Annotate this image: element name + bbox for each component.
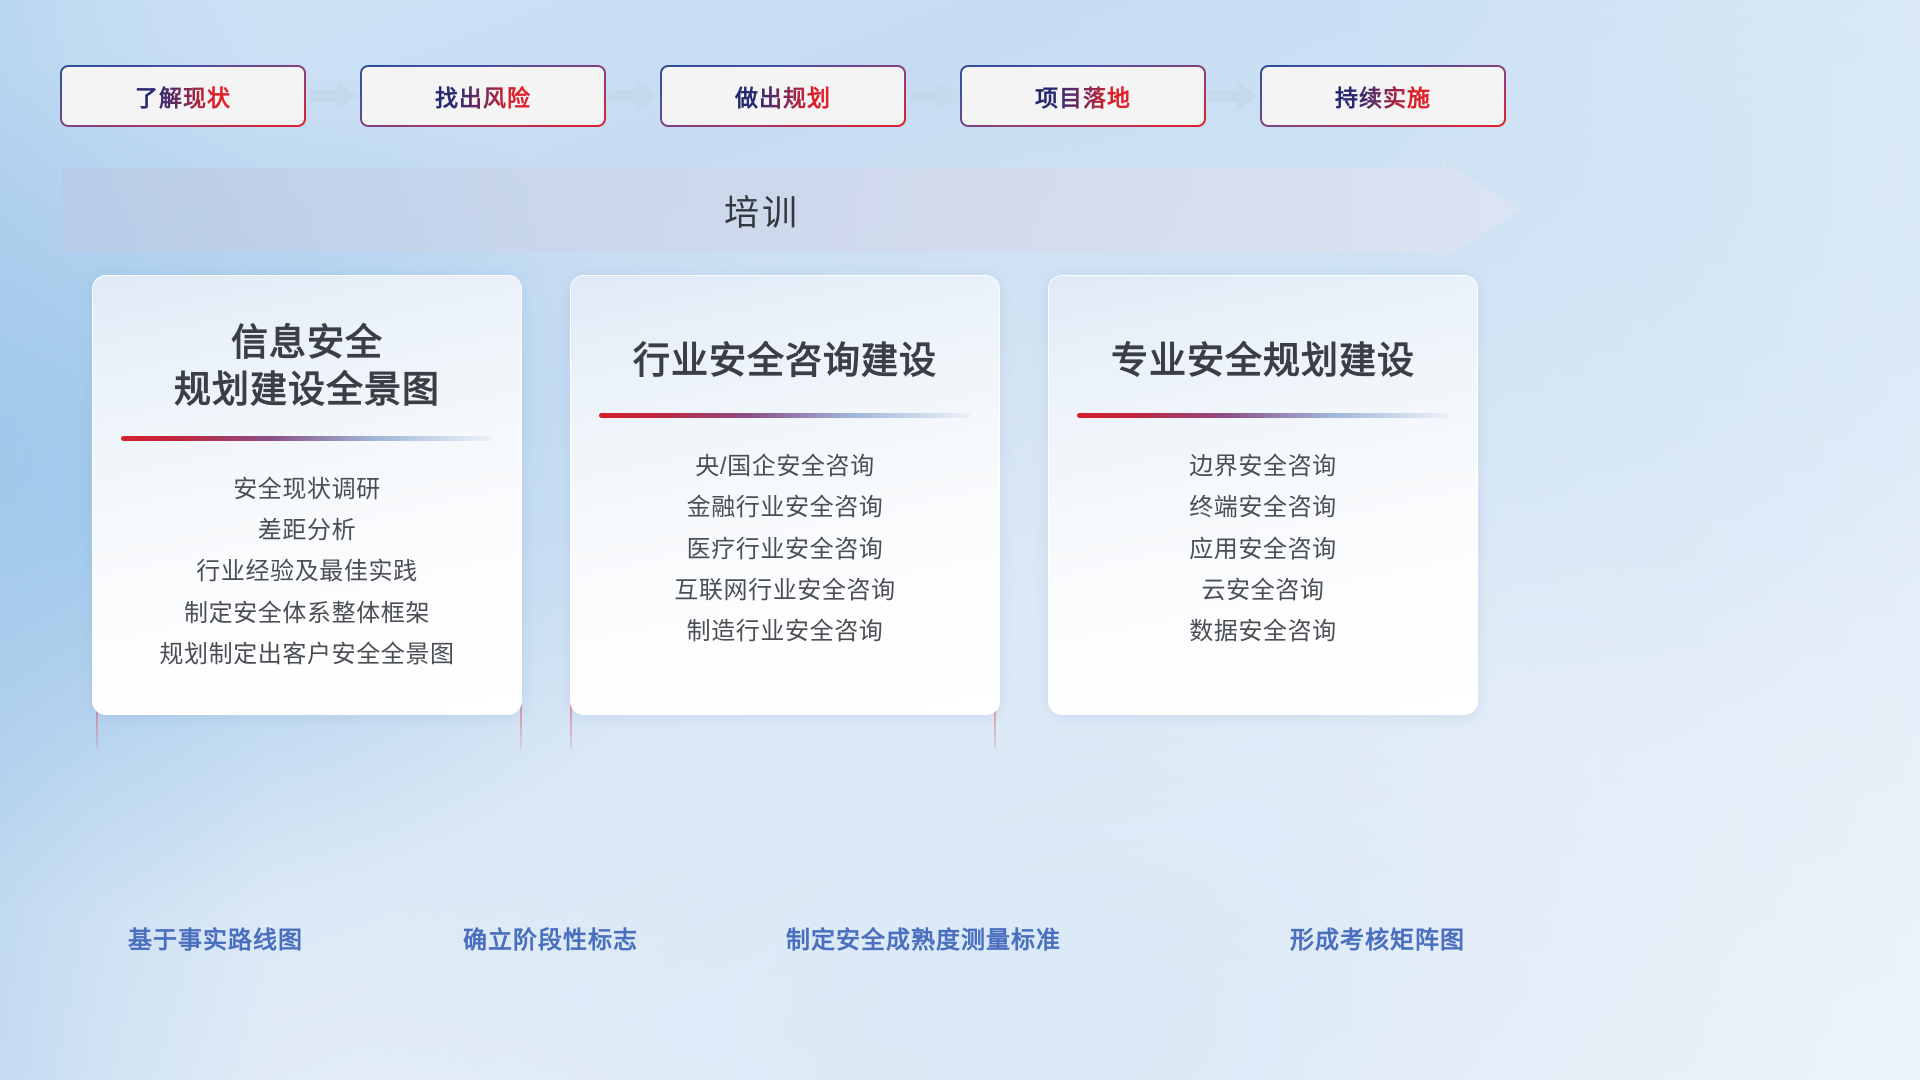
card-list-item: 规划制定出客户安全全景图 (92, 634, 522, 675)
card-list-item: 数据安全咨询 (1048, 611, 1478, 652)
footnote-2: 制定安全成熟度测量标准 (786, 920, 1061, 955)
right-arrow-icon (606, 79, 660, 113)
footnote-0: 基于事实路线图 (128, 920, 303, 955)
right-arrow-icon (906, 79, 960, 113)
service-card-1[interactable]: 行业安全咨询建设 央/国企安全咨询 金融行业安全咨询 医疗行业安全咨询 互联网行… (570, 275, 1000, 715)
card-item-list: 央/国企安全咨询 金融行业安全咨询 医疗行业安全咨询 互联网行业安全咨询 制造行… (570, 446, 1000, 652)
card-list-item: 制定安全体系整体框架 (92, 593, 522, 634)
process-step-label: 了解现状 (135, 79, 231, 113)
process-step-3[interactable]: 项目落地 (960, 65, 1206, 127)
process-step-label: 找出风险 (435, 79, 531, 113)
card-divider (121, 436, 493, 441)
process-step-row: 了解现状 找出风险 做出规划 项目落地 (60, 65, 1860, 127)
card-list-item: 应用安全咨询 (1048, 529, 1478, 570)
footnote-row: 基于事实路线图 确立阶段性标志 制定安全成熟度测量标准 形成考核矩阵图 (0, 920, 1920, 960)
card-divider (1077, 413, 1449, 418)
card-list-item: 医疗行业安全咨询 (570, 529, 1000, 570)
service-card-group: 信息安全 规划建设全景图 安全现状调研 差距分析 行业经验及最佳实践 制定安全体… (92, 275, 1832, 715)
training-banner-label: 培训 (62, 160, 1462, 260)
card-list-item: 制造行业安全咨询 (570, 611, 1000, 652)
card-list-item: 边界安全咨询 (1048, 446, 1478, 487)
footnote-3: 形成考核矩阵图 (1290, 920, 1465, 955)
card-item-list: 安全现状调研 差距分析 行业经验及最佳实践 制定安全体系整体框架 规划制定出客户… (92, 469, 522, 675)
card-item-list: 边界安全咨询 终端安全咨询 应用安全咨询 云安全咨询 数据安全咨询 (1048, 446, 1478, 652)
process-step-4[interactable]: 持续实施 (1260, 65, 1506, 127)
card-title: 专业安全规划建设 (1074, 275, 1452, 391)
training-banner: 培训 (62, 160, 1522, 260)
card-list-item: 安全现状调研 (92, 469, 522, 510)
card-list-item: 互联网行业安全咨询 (570, 570, 1000, 611)
card-list-item: 终端安全咨询 (1048, 487, 1478, 528)
process-step-1[interactable]: 找出风险 (360, 65, 606, 127)
slide-stage: 了解现状 找出风险 做出规划 项目落地 (0, 0, 1920, 1080)
process-step-label: 项目落地 (1035, 79, 1131, 113)
card-list-item: 央/国企安全咨询 (570, 446, 1000, 487)
card-list-item: 金融行业安全咨询 (570, 487, 1000, 528)
process-step-0[interactable]: 了解现状 (60, 65, 306, 127)
card-divider (599, 413, 971, 418)
footnote-1: 确立阶段性标志 (463, 920, 638, 955)
card-list-item: 云安全咨询 (1048, 570, 1478, 611)
right-arrow-icon (1206, 79, 1260, 113)
service-card-2[interactable]: 专业安全规划建设 边界安全咨询 终端安全咨询 应用安全咨询 云安全咨询 数据安全… (1048, 275, 1478, 715)
process-step-label: 做出规划 (735, 79, 831, 113)
process-step-label: 持续实施 (1335, 79, 1431, 113)
process-step-2[interactable]: 做出规划 (660, 65, 906, 127)
card-title: 信息安全 规划建设全景图 (118, 275, 496, 414)
card-list-item: 行业经验及最佳实践 (92, 551, 522, 592)
service-card-0[interactable]: 信息安全 规划建设全景图 安全现状调研 差距分析 行业经验及最佳实践 制定安全体… (92, 275, 522, 715)
right-arrow-icon (306, 79, 360, 113)
card-list-item: 差距分析 (92, 510, 522, 551)
card-title: 行业安全咨询建设 (596, 275, 974, 391)
